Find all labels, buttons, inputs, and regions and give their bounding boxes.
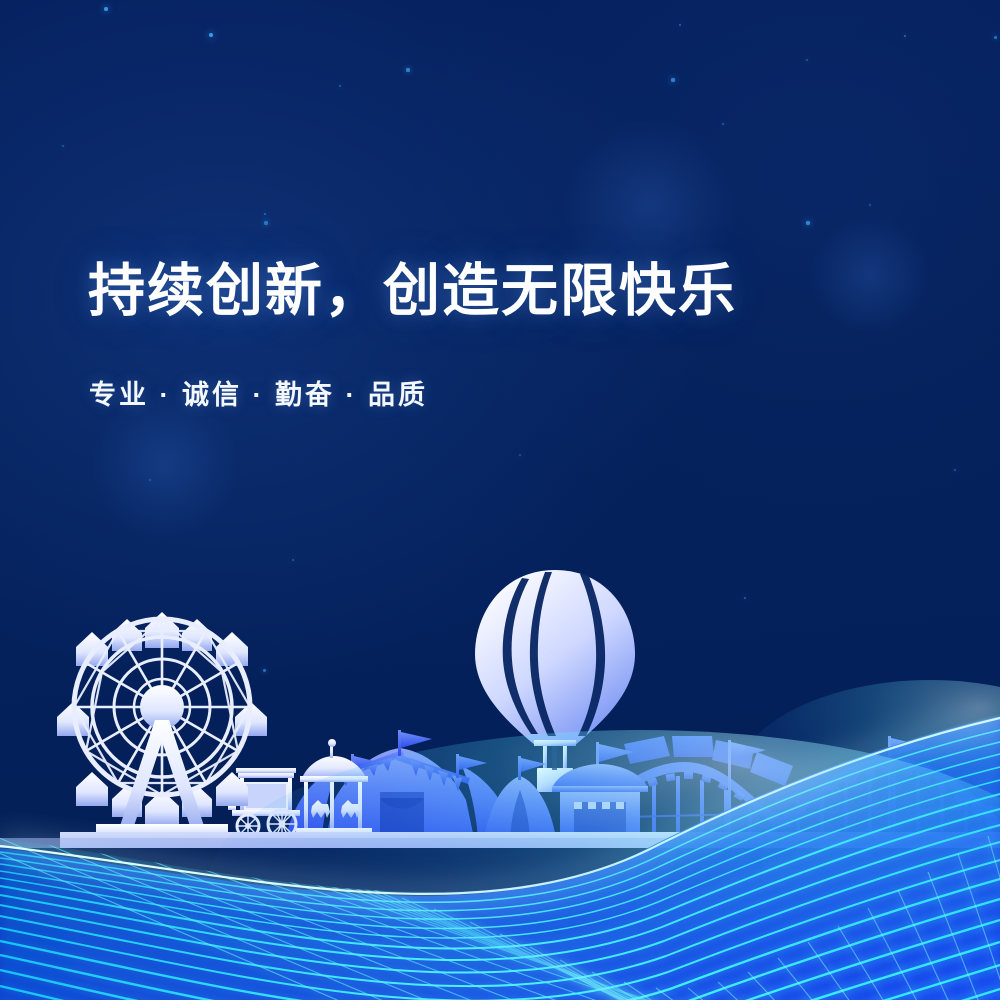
park-skyline [0, 0, 1000, 1000]
circus-tent-icon [286, 730, 514, 838]
coaster-flags-icon [596, 736, 926, 840]
ferris-wheel-icon [57, 612, 267, 838]
star-dot [994, 36, 997, 39]
star-dot [869, 204, 871, 206]
star-dot [806, 221, 809, 224]
star-dot [610, 676, 613, 679]
star-dot [954, 469, 957, 472]
coaster-cars [624, 736, 793, 786]
ferris-rings [74, 619, 250, 795]
carousel-icon [296, 739, 372, 838]
banner-canvas: 持续创新，创造无限快乐 专业 · 诚信 · 勤奋 · 品质 [0, 0, 1000, 1000]
star-dot [264, 213, 267, 216]
star-dot [519, 454, 521, 456]
star-dot [339, 85, 342, 88]
star-dot [806, 59, 808, 61]
small-tent-icon [484, 756, 556, 838]
star-dot [104, 7, 108, 11]
star-dot [744, 597, 747, 600]
star-dot [904, 35, 907, 38]
glow-wave-mesh [0, 0, 1000, 1000]
roller-coaster-icon [560, 736, 1000, 848]
star-dot [671, 78, 674, 81]
hot-air-balloon-icon [475, 570, 635, 792]
star-dot [209, 33, 213, 37]
star-dot [292, 559, 295, 562]
page-subtitle: 专业 · 诚信 · 勤奋 · 品质 [89, 373, 428, 412]
star-dot [722, 123, 725, 126]
ground-line [60, 832, 1000, 848]
starfield [0, 0, 1000, 1000]
star-dot [879, 759, 882, 762]
star-dot [406, 68, 409, 71]
ferris-cabins [57, 612, 267, 826]
vendor-cart-icon [228, 768, 300, 838]
star-dot [149, 479, 151, 481]
star-dot [263, 669, 266, 672]
star-dot [679, 24, 682, 27]
star-dot [264, 221, 267, 224]
star-dot [62, 145, 64, 147]
ferris-spokes [74, 619, 250, 795]
ferris-bracing [74, 619, 250, 795]
page-title: 持续创新，创造无限快乐 [88, 262, 737, 322]
ticket-booth-icon [552, 764, 648, 838]
